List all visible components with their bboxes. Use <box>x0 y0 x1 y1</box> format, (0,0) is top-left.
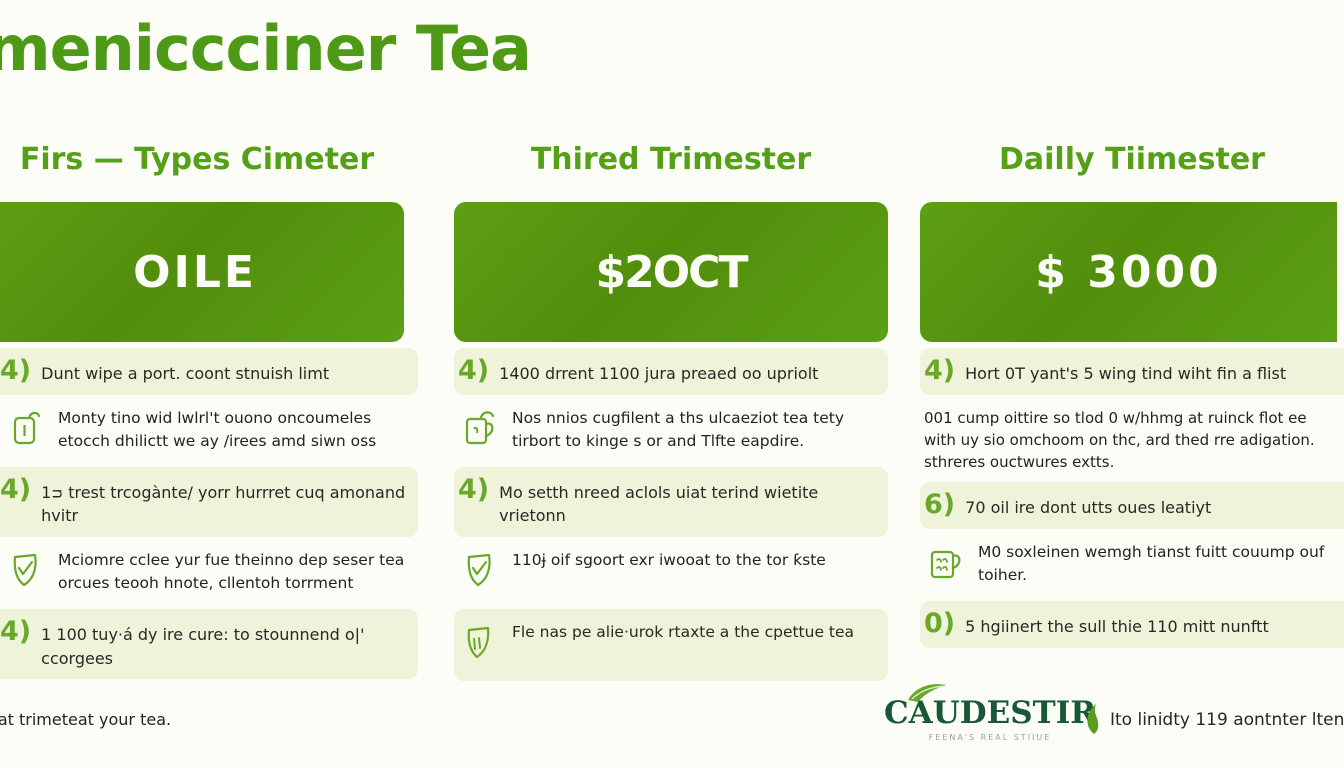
row-text: 001 cump oittire so tlod 0 w/hhmg at rui… <box>924 404 1334 474</box>
row-text: Dunt wipe a port. coont stnuish limt <box>41 357 408 386</box>
column-1-rows: 4) Dunt wipe a port. coont stnuish limt … <box>0 348 418 679</box>
column-daily-trimester: Dailly Tiimester $ 3000 4) Hort 0T yant'… <box>912 118 1344 648</box>
leaf-icon <box>906 682 952 708</box>
row-text: 110ɉ oif sgoort exr iwooat to the tor ƙs… <box>512 546 878 572</box>
brand-logo: CAUDESTIR FEENA'S REAL STIIUE <box>884 698 1096 742</box>
row-text: M0 soxleinen wemgh tianst fuitt couump o… <box>978 538 1334 587</box>
list-item[interactable]: 4) 1400 drrent 1100 jura preaed oo uprio… <box>454 348 888 395</box>
shield-check-icon <box>4 546 50 592</box>
brand-tagline: FEENA'S REAL STIIUE <box>929 733 1052 742</box>
row-marker: 0) <box>924 610 965 637</box>
list-item[interactable]: 0) 5 hgiinert the sull thie 110 mitt nun… <box>920 601 1344 648</box>
column-1-banner-text: OILE <box>133 247 257 298</box>
row-text: Mciomre cclee yur fue theinno dep seser … <box>58 546 408 595</box>
column-2-rows: 4) 1400 drrent 1100 jura preaed oo uprio… <box>454 348 888 681</box>
list-item[interactable]: 6) 70 oil ire dont utts oues leatiyt <box>920 482 1344 529</box>
column-1-header: Firs — Types Cimeter <box>0 118 418 202</box>
list-item[interactable]: 110ɉ oif sgoort exr iwooat to the tor ƙs… <box>454 537 888 609</box>
row-text: Mo setth nreed aclols uiat terind wietit… <box>499 476 878 528</box>
row-text: 5 hgiinert the sull thie 110 mitt nunftt <box>965 610 1340 639</box>
footer-left-text: eat trimeteat your tea. <box>0 710 171 729</box>
comparison-columns: Firs — Types Cimeter OILE 4) Dunt wipe a… <box>0 118 1344 698</box>
tea-mug-icon <box>458 404 504 450</box>
tea-bag-icon <box>924 538 970 584</box>
row-marker: 4) <box>458 476 499 503</box>
row-marker: 4) <box>924 357 965 384</box>
column-first-trimester: Firs — Types Cimeter OILE 4) Dunt wipe a… <box>0 118 432 679</box>
swirl-icon <box>1080 702 1110 740</box>
row-text: 1400 drrent 1100 jura preaed oo upriolt <box>499 357 878 386</box>
column-3-banner-text: $ 3000 <box>1035 247 1221 298</box>
list-item[interactable]: 4) Hort 0T yant's 5 wing tind wiht fin a… <box>920 348 1344 395</box>
column-3-banner: $ 3000 <box>920 202 1337 342</box>
list-item[interactable]: 4) Dunt wipe a port. coont stnuish limt <box>0 348 418 395</box>
list-item[interactable]: 001 cump oittire so tlod 0 w/hhmg at rui… <box>920 395 1344 483</box>
list-item[interactable]: 4) Mo setth nreed aclols uiat terind wie… <box>454 467 888 537</box>
shield-check-icon <box>458 546 504 592</box>
column-3-rows: 4) Hort 0T yant's 5 wing tind wiht fin a… <box>920 348 1344 648</box>
row-text: 70 oil ire dont utts oues leatiyt <box>965 491 1340 520</box>
column-1-banner: OILE <box>0 202 404 342</box>
row-marker: 4) <box>0 618 41 645</box>
row-marker: 4) <box>0 357 41 384</box>
row-marker: 4) <box>0 476 41 503</box>
column-2-banner: $2OCT <box>454 202 888 342</box>
column-3-header: Dailly Tiimester <box>920 118 1344 202</box>
list-item[interactable]: Nos nnios cugfilent a ths ulcaeziot tea … <box>454 395 888 467</box>
row-text: Hort 0T yant's 5 wing tind wiht fin a fl… <box>965 357 1340 386</box>
footer-brand: CAUDESTIR FEENA'S REAL STIIUE Ito linidt… <box>884 698 1344 742</box>
list-item[interactable]: 4) 1ᴝ trest trcogànte/ yorr hurrret cuq … <box>0 467 418 537</box>
list-item[interactable]: Mciomre cclee yur fue theinno dep seser … <box>0 537 418 609</box>
footer-note: Ito linidty 119 aontnter lten tea ddl lu… <box>1110 710 1344 730</box>
row-text: Nos nnios cugfilent a ths ulcaeziot tea … <box>512 404 878 453</box>
shield-leaf-icon <box>458 618 504 664</box>
row-marker: 6) <box>924 491 965 518</box>
row-marker: 4) <box>458 357 499 384</box>
row-text: 1ᴝ trest trcogànte/ yorr hurrret cuq amo… <box>41 476 408 528</box>
list-item[interactable]: 4) 1 100 tuy·á dy ire cure: to stounnend… <box>0 609 418 679</box>
list-item[interactable]: M0 soxleinen wemgh tianst fuitt couump o… <box>920 529 1344 601</box>
row-text: Fle nas pe alie·urok rtaxte a the cpettu… <box>512 618 878 644</box>
list-item[interactable]: Monty tino wid lwlrl't ouono oncoumeles … <box>0 395 418 467</box>
column-2-banner-text: $2OCT <box>596 247 747 298</box>
page-title: meniccciner Tea <box>0 18 531 80</box>
column-2-header: Thired Trimester <box>454 118 888 202</box>
column-third-trimester: Thired Trimester $2OCT 4) 1400 drrent 11… <box>432 118 912 681</box>
row-text: Monty tino wid lwlrl't ouono oncoumeles … <box>58 404 408 453</box>
list-item[interactable]: Fle nas pe alie·urok rtaxte a the cpettu… <box>454 609 888 681</box>
tea-cup-icon <box>4 404 50 450</box>
row-text: 1 100 tuy·á dy ire cure: to stounnend o|… <box>41 618 408 670</box>
